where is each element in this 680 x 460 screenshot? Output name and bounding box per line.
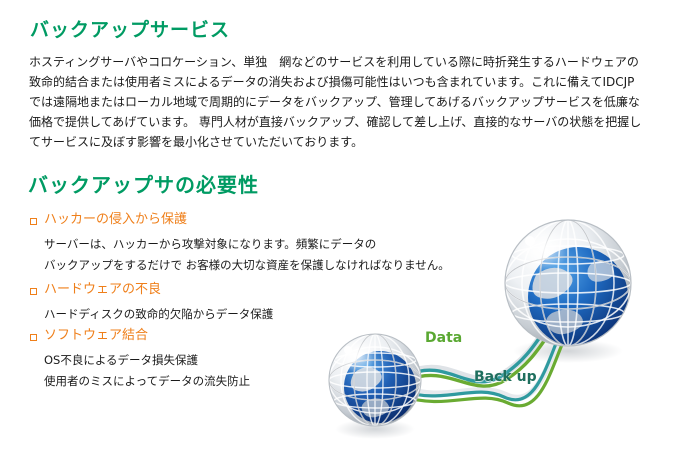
backup-service-page: バックアップサービス ホスティングサーバやコロケーション、単独 網などのサービス…: [0, 0, 680, 460]
bullet-body-line: ハードディスクの致命的欠陥からデータ保護: [44, 304, 273, 325]
bullet-title: ハッカーの侵入から保護: [44, 211, 187, 229]
label-backup: Back up: [474, 369, 537, 385]
bullet-body-line: バックアップをするだけで お客様の大切な資産を保護しなければなりません。: [44, 255, 450, 276]
bullet-title: ソフトウェア結合: [44, 327, 148, 345]
intro-line: ホスティングサーバやコロケーション、単独 網などのサービスを利用している際に時折…: [29, 52, 661, 72]
intro-line: では遠隔地またはローカル地域で周期的にデータをバックアップ、管理してあげるバック…: [29, 92, 661, 112]
square-bullet-icon: [30, 288, 37, 295]
intro-paragraph: ホスティングサーバやコロケーション、単独 網などのサービスを利用している際に時折…: [29, 52, 661, 152]
globe-shadow-large: [513, 339, 623, 363]
section-title-necessity: バックアップサの必要性: [28, 169, 259, 198]
square-bullet-icon: [30, 334, 37, 341]
bullet-body: ハードディスクの致命的欠陥からデータ保護: [44, 304, 273, 325]
bullet-body: OS不良によるデータ損失保護 使用者のミスによってデータの流失防止: [44, 350, 250, 392]
globe-shadow-small: [335, 419, 415, 439]
square-bullet-icon: [30, 218, 37, 225]
bullet-body-line: OS不良によるデータ損失保護: [44, 350, 250, 371]
bullet-body: サーバーは、ハッカーから攻撃対象になります。頻繁にデータの バックアップをするだ…: [44, 234, 450, 276]
bullet-body-line: 使用者のミスによってデータの流失防止: [44, 371, 250, 392]
bullet-heading: ハードウェアの不良: [30, 281, 273, 299]
bullet-item: ソフトウェア結合 OS不良によるデータ損失保護 使用者のミスによってデータの流失…: [30, 327, 250, 392]
label-data: Data: [425, 330, 462, 346]
globe-illustration-small: [329, 334, 421, 426]
bullet-title: ハードウェアの不良: [44, 281, 161, 299]
intro-line: てサービスに及ぼす影響を最小化させていただいております。: [29, 132, 661, 152]
network-cable-illustration: [388, 291, 568, 406]
bullet-heading: ハッカーの侵入から保護: [30, 211, 450, 229]
bullet-body-line: サーバーは、ハッカーから攻撃対象になります。頻繁にデータの: [44, 234, 450, 255]
globe-illustration-large: [505, 220, 631, 347]
intro-line: 致命的結合または使用者ミスによるデータの消失および損傷可能性はいつも含まれていま…: [29, 72, 661, 92]
bullet-item: ハッカーの侵入から保護 サーバーは、ハッカーから攻撃対象になります。頻繁にデータ…: [30, 211, 450, 276]
page-title: バックアップサービス: [30, 15, 230, 42]
intro-line: 価格で提供してあげています。 専門人材が直接バックアップ、確認して差し上げ、直接…: [29, 112, 661, 132]
bullet-item: ハードウェアの不良 ハードディスクの致命的欠陥からデータ保護: [30, 281, 273, 325]
bullet-heading: ソフトウェア結合: [30, 327, 250, 345]
